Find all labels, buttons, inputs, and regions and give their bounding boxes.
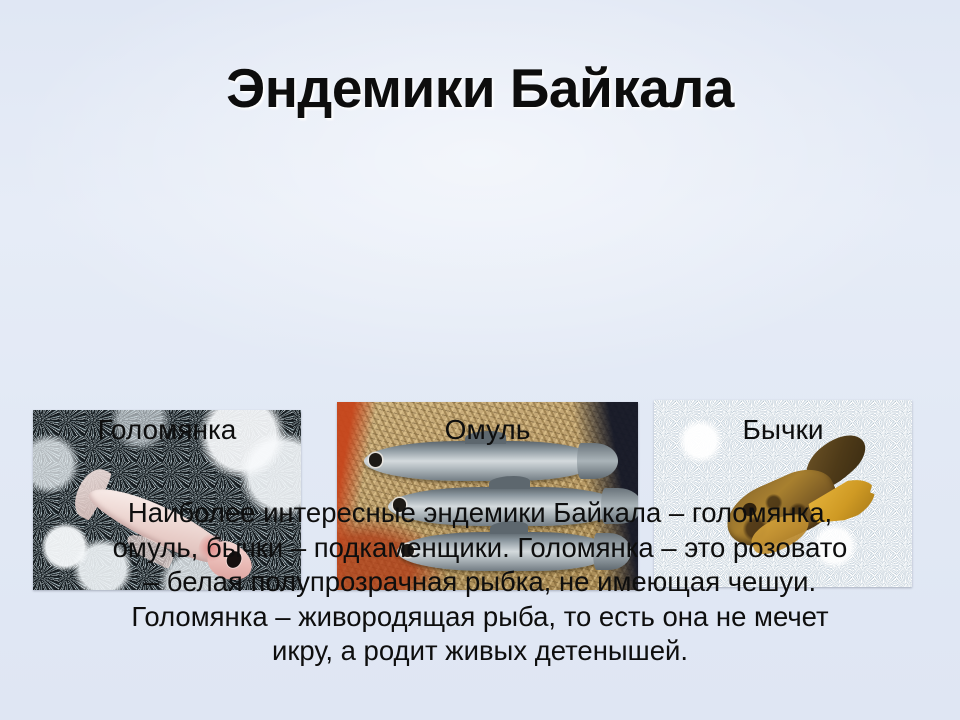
caption-golomyanka: Голомянка: [33, 413, 301, 447]
description-line: – белая полупрозрачная рыбка, не имеющая…: [48, 565, 912, 600]
photo-row: [0, 200, 960, 392]
omul-dorsal-fin: [489, 476, 530, 489]
slide: Эндемики Байкала: [0, 0, 960, 720]
description-line: омуль, бычки – подкаменщики. Голомянка –…: [48, 531, 912, 566]
description-line: икру, а родит живых детенышей.: [48, 634, 912, 669]
description-paragraph: Наиболее интересные эндемики Байкала – г…: [48, 496, 912, 669]
caption-omul: Омуль: [337, 413, 638, 447]
caption-bychki: Бычки: [654, 413, 912, 447]
description-line: Голомянка – живородящая рыба, то есть он…: [48, 600, 912, 635]
page-title: Эндемики Байкала: [0, 58, 960, 118]
caption-row: Голомянка Омуль Бычки: [0, 413, 960, 453]
description-line: Наиболее интересные эндемики Байкала – г…: [48, 496, 912, 531]
